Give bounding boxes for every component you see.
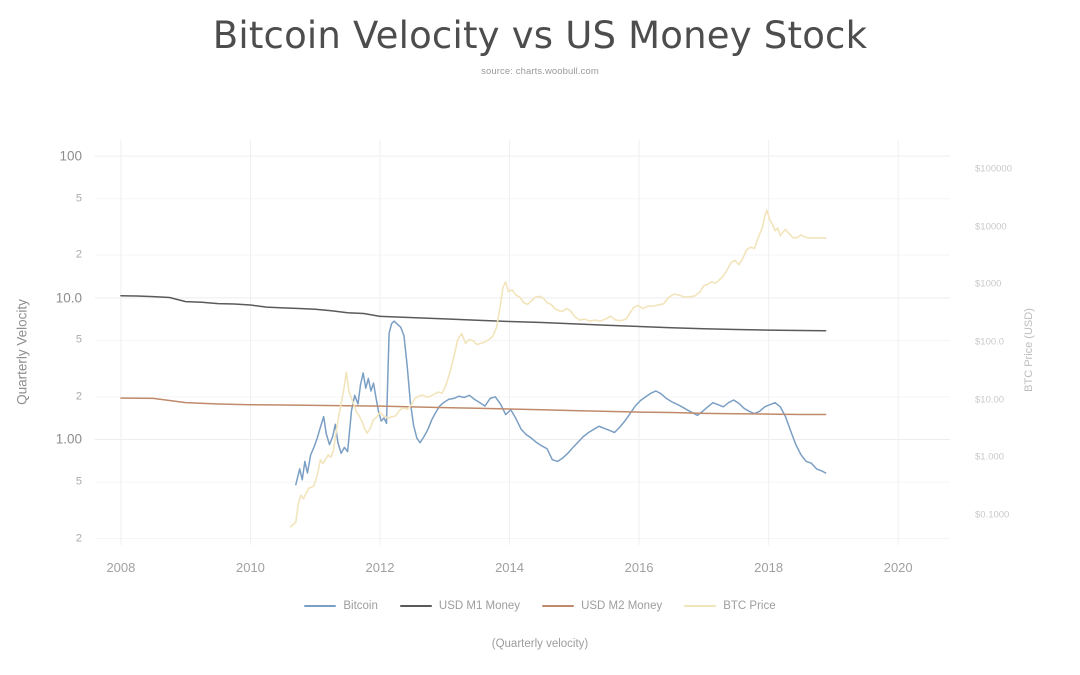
legend-item-usd-m1-money[interactable]: USD M1 Money	[400, 600, 520, 612]
x-axis-tick-label: 2014	[495, 560, 524, 575]
legend-item-label: Bitcoin	[343, 600, 378, 612]
chart-legend: BitcoinUSD M1 MoneyUSD M2 MoneyBTC Price	[0, 600, 1080, 612]
plot-area	[95, 140, 950, 545]
page-title: Bitcoin Velocity vs US Money Stock	[0, 14, 1080, 57]
y-axis-tick-label: 10.0	[40, 291, 82, 305]
legend-swatch-icon	[542, 605, 574, 607]
series-line-btc-price	[291, 210, 826, 527]
y2-axis-tick-label: $1.000	[975, 452, 1004, 462]
y-axis-tick-label: 5	[40, 477, 82, 488]
x-axis-tick-label: 2010	[236, 560, 265, 575]
series-line-bitcoin	[296, 321, 826, 485]
y2-axis-tick-label: $100000	[975, 164, 1012, 174]
chart-footer-caption: (Quarterly velocity)	[0, 638, 1080, 650]
legend-item-label: USD M1 Money	[439, 600, 520, 612]
chart-source-subtitle: source: charts.woobull.com	[0, 66, 1080, 77]
y2-axis-tick-label: $0.1000	[975, 510, 1009, 520]
y2-axis-tick-label: $10000	[975, 222, 1007, 232]
y2-axis-tick-label: $100.0	[975, 337, 1004, 347]
y-axis-tick-label: 5	[40, 335, 82, 346]
y2-axis-tick-label: $10.00	[975, 395, 1004, 405]
series-layer	[95, 140, 950, 545]
y-axis-tick-label: 2	[40, 391, 82, 402]
y2-axis-tick-label: $1000	[975, 280, 1001, 290]
y-axis-title-right: BTC Price (USD)	[1023, 308, 1035, 392]
legend-item-bitcoin[interactable]: Bitcoin	[304, 600, 378, 612]
y-axis-title-left: Quarterly Velocity	[15, 299, 30, 405]
legend-item-label: USD M2 Money	[581, 600, 662, 612]
y-axis-tick-label: 100	[40, 149, 82, 163]
series-line-usd-m1-money	[121, 296, 826, 331]
y-axis-tick-label: 2	[40, 250, 82, 261]
legend-swatch-icon	[400, 605, 432, 607]
x-axis-tick-label: 2020	[884, 560, 913, 575]
legend-item-usd-m2-money[interactable]: USD M2 Money	[542, 600, 662, 612]
y-axis-tick-label: 2	[40, 533, 82, 544]
x-axis-tick-label: 2008	[106, 560, 135, 575]
legend-swatch-icon	[304, 605, 336, 607]
chart-page: Bitcoin Velocity vs US Money Stock sourc…	[0, 0, 1080, 675]
legend-swatch-icon	[684, 605, 716, 607]
legend-item-label: BTC Price	[723, 600, 775, 612]
x-axis-tick-label: 2016	[625, 560, 654, 575]
x-axis-tick-label: 2012	[366, 560, 395, 575]
legend-item-btc-price[interactable]: BTC Price	[684, 600, 775, 612]
y-axis-tick-label: 5	[40, 193, 82, 204]
series-line-usd-m2-money	[121, 398, 826, 414]
y-axis-tick-label: 1.00	[40, 433, 82, 447]
x-axis-tick-label: 2018	[754, 560, 783, 575]
